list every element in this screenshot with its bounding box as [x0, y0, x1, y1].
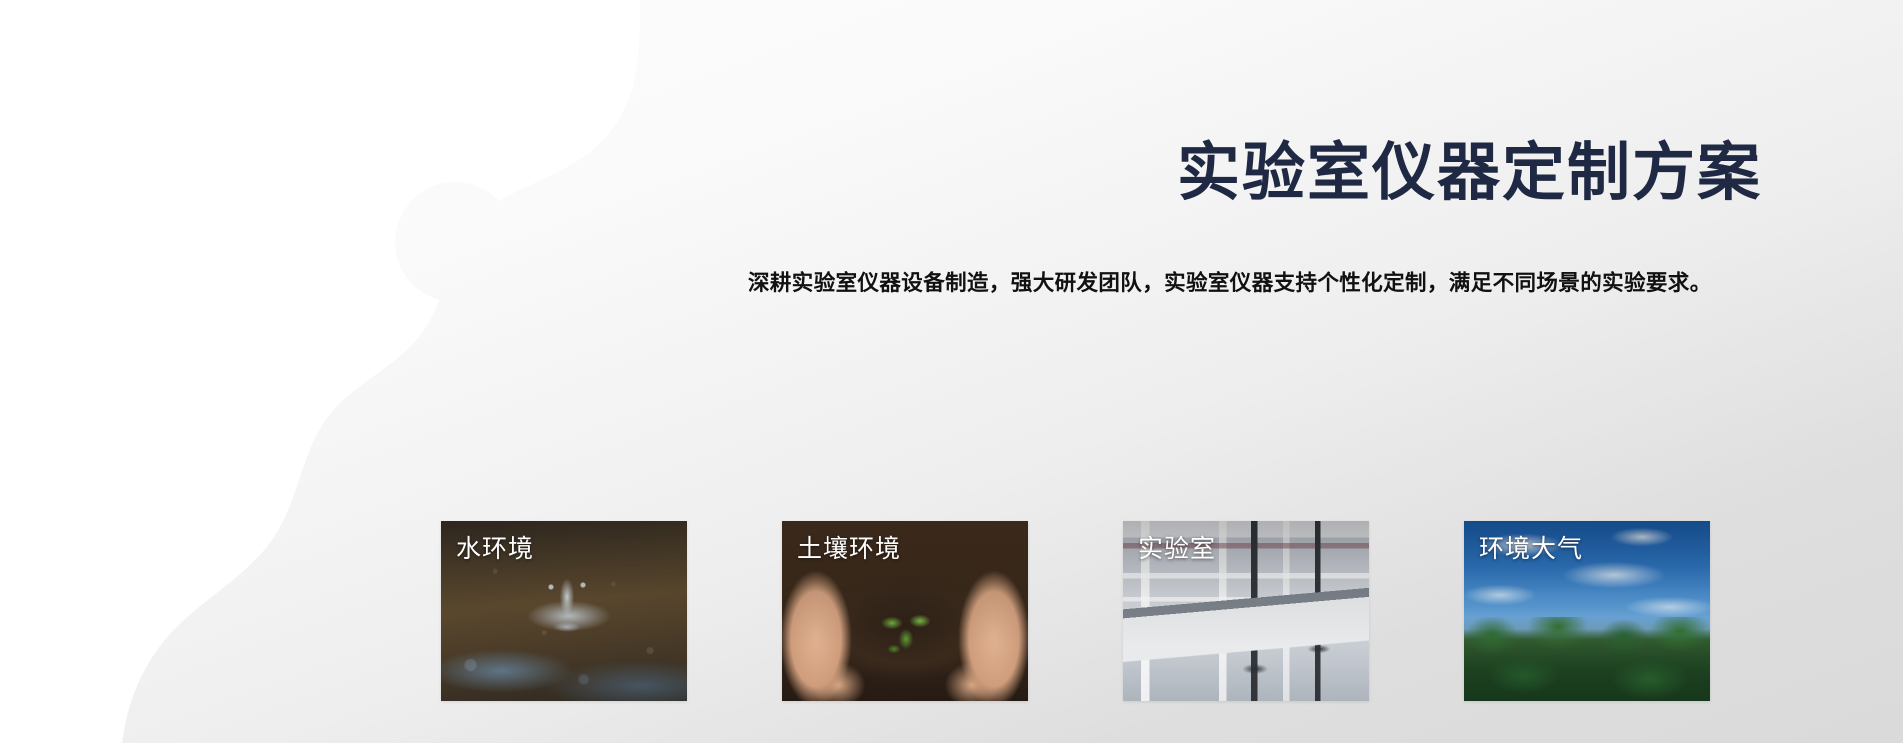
- category-card-label: 实验室: [1138, 534, 1216, 564]
- category-card-label: 土壤环境: [797, 534, 901, 564]
- category-card-atmosphere[interactable]: 环境大气: [1464, 521, 1710, 701]
- category-card-label: 环境大气: [1479, 534, 1583, 564]
- category-card-water[interactable]: 水环境: [441, 521, 687, 701]
- banner-description: 深耕实验室仪器设备制造，强大研发团队，实验室仪器支持个性化定制，满足不同场景的实…: [748, 210, 1713, 302]
- category-card-label: 水环境: [456, 534, 534, 564]
- banner-copy-block: 实验室仪器定制方案 深耕实验室仪器设备制造，强大研发团队，实验室仪器支持个性化定…: [748, 138, 1768, 302]
- page-title: 实验室仪器定制方案: [748, 138, 1768, 210]
- category-card-soil[interactable]: 土壤环境: [782, 521, 1028, 701]
- category-card-list: 水环境 土壤环境 实验室 环境大气: [441, 521, 1710, 701]
- hero-banner: 实验室仪器定制方案 深耕实验室仪器设备制造，强大研发团队，实验室仪器支持个性化定…: [0, 0, 1903, 743]
- category-card-laboratory[interactable]: 实验室: [1123, 521, 1369, 701]
